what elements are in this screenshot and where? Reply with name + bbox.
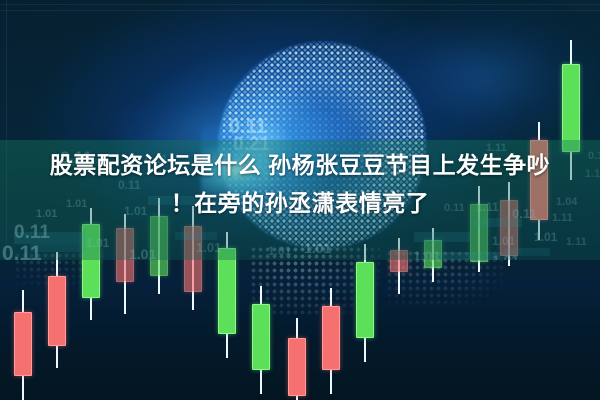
candle-2: [48, 252, 66, 368]
headline: 股票配资论坛是什么 孙杨张豆豆节目上发生争吵 ！在旁的孙丞潇表情亮了: [0, 146, 600, 222]
candle-body: [14, 312, 32, 376]
candle-9: [288, 318, 306, 400]
candle-8: [252, 286, 270, 394]
candle-10: [322, 288, 340, 394]
headline-line-1: 股票配资论坛是什么 孙杨张豆豆节目上发生争吵: [50, 152, 550, 178]
candle-body: [322, 306, 340, 370]
candle-11: [356, 244, 374, 362]
headline-line-2: ！在旁的孙丞潇表情亮了: [0, 184, 600, 222]
banner-image: 0.111.010.110.111.011.011.010.110.111.01…: [0, 0, 600, 400]
candle-body: [288, 338, 306, 396]
candle-1: [14, 290, 32, 400]
candle-body: [252, 304, 270, 370]
frame-line-top-2: [0, 10, 600, 11]
frame-line-top: [0, 4, 600, 5]
ticker-number: 1.11: [404, 128, 425, 140]
candle-body: [218, 248, 236, 334]
candle-body: [356, 262, 374, 338]
candle-body: [48, 276, 66, 346]
